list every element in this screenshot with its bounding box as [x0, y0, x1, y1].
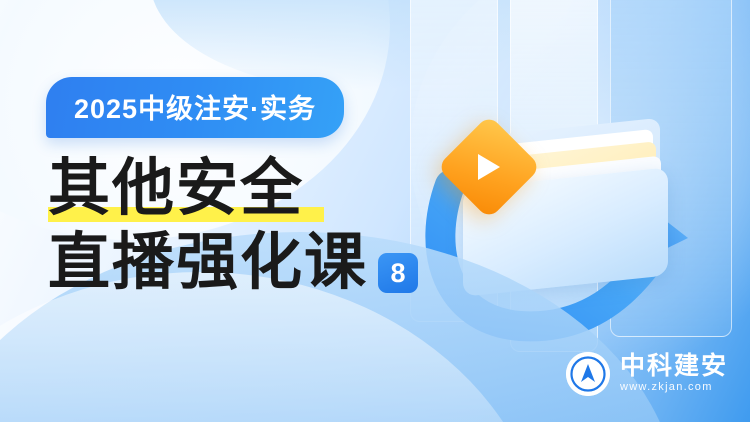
course-tag-badge: 2025中级注安·实务	[46, 77, 344, 138]
headline-line-2: 直播强化课	[48, 232, 368, 294]
headline-row-1: 其他安全	[48, 152, 468, 226]
brand-name: 中科建安	[620, 353, 728, 380]
brand-website: www.zkjan.com	[620, 380, 728, 395]
headline-row-2: 直播强化课 8	[48, 226, 468, 300]
course-promo-banner: 2025中级注安·实务 其他安全 直播强化课 8 中科建安 www.zkjan.…	[0, 0, 750, 422]
episode-number-badge: 8	[378, 253, 418, 293]
headline-block: 其他安全 直播强化课 8	[48, 152, 468, 300]
play-triangle-icon	[478, 154, 500, 180]
compass-logo-icon	[566, 352, 610, 396]
brand-logo: 中科建安 www.zkjan.com	[566, 352, 728, 396]
brand-text: 中科建安 www.zkjan.com	[620, 353, 728, 395]
headline-line-1: 其他安全	[48, 158, 304, 220]
